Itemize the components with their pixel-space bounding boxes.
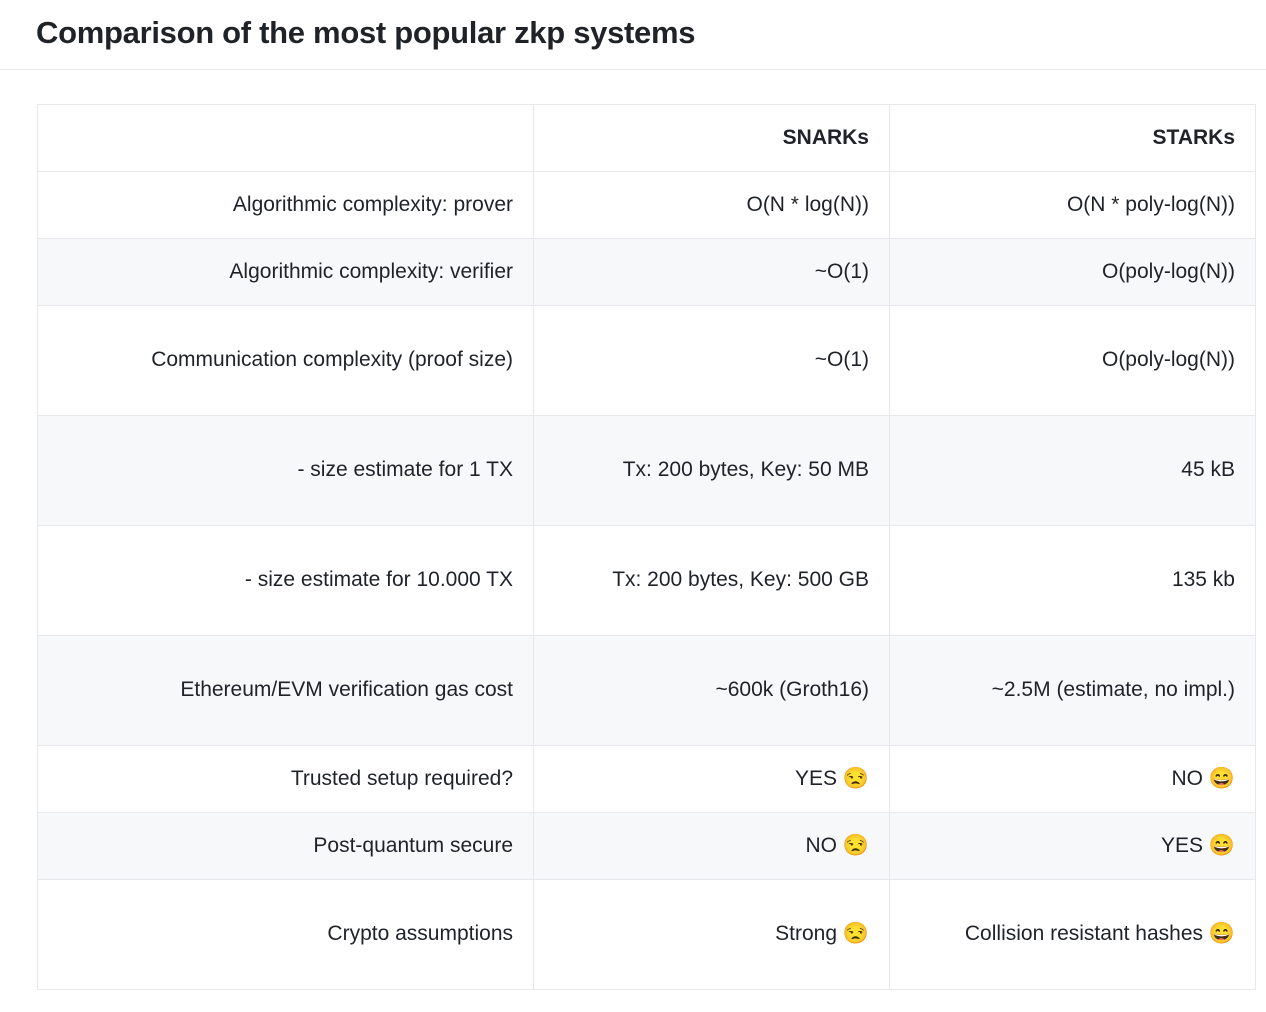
snarks-value-cell: Tx: 200 bytes, Key: 500 GB bbox=[534, 525, 890, 635]
table-row: Ethereum/EVM verification gas cost~600k … bbox=[38, 635, 1256, 745]
row-label-cell: Crypto assumptions bbox=[38, 879, 534, 989]
comparison-table-container: SNARKs STARKs Algorithmic complexity: pr… bbox=[0, 70, 1266, 990]
table-row: Algorithmic complexity: verifier~O(1)O(p… bbox=[38, 238, 1256, 305]
snarks-value-cell: YES 😒 bbox=[534, 745, 890, 812]
column-header-blank bbox=[38, 104, 534, 171]
starks-value-cell: O(N * poly-log(N)) bbox=[890, 171, 1256, 238]
row-label-cell: Ethereum/EVM verification gas cost bbox=[38, 635, 534, 745]
table-head: SNARKs STARKs bbox=[38, 104, 1256, 171]
table-row: - size estimate for 10.000 TXTx: 200 byt… bbox=[38, 525, 1256, 635]
column-header-starks: STARKs bbox=[890, 104, 1256, 171]
table-row: Crypto assumptionsStrong 😒Collision resi… bbox=[38, 879, 1256, 989]
snarks-value-cell: ~O(1) bbox=[534, 305, 890, 415]
page-title: Comparison of the most popular zkp syste… bbox=[36, 14, 1230, 69]
starks-value-cell: O(poly-log(N)) bbox=[890, 238, 1256, 305]
table-header-row: SNARKs STARKs bbox=[38, 104, 1256, 171]
table-row: Post-quantum secureNO 😒YES 😄 bbox=[38, 812, 1256, 879]
page-root: Comparison of the most popular zkp syste… bbox=[0, 0, 1266, 1012]
starks-value-cell: ~2.5M (estimate, no impl.) bbox=[890, 635, 1256, 745]
table-row: Algorithmic complexity: proverO(N * log(… bbox=[38, 171, 1256, 238]
snarks-value-cell: Strong 😒 bbox=[534, 879, 890, 989]
starks-value-cell: 45 kB bbox=[890, 415, 1256, 525]
row-label-cell: - size estimate for 10.000 TX bbox=[38, 525, 534, 635]
row-label-cell: Trusted setup required? bbox=[38, 745, 534, 812]
snarks-value-cell: Tx: 200 bytes, Key: 50 MB bbox=[534, 415, 890, 525]
snarks-value-cell: ~600k (Groth16) bbox=[534, 635, 890, 745]
starks-value-cell: 135 kb bbox=[890, 525, 1256, 635]
snarks-value-cell: NO 😒 bbox=[534, 812, 890, 879]
table-row: Trusted setup required?YES 😒NO 😄 bbox=[38, 745, 1256, 812]
starks-value-cell: O(poly-log(N)) bbox=[890, 305, 1256, 415]
starks-value-cell: NO 😄 bbox=[890, 745, 1256, 812]
table-row: Communication complexity (proof size)~O(… bbox=[38, 305, 1256, 415]
row-label-cell: Algorithmic complexity: prover bbox=[38, 171, 534, 238]
row-label-cell: Post-quantum secure bbox=[38, 812, 534, 879]
comparison-table: SNARKs STARKs Algorithmic complexity: pr… bbox=[37, 104, 1256, 990]
column-header-snarks: SNARKs bbox=[534, 104, 890, 171]
snarks-value-cell: ~O(1) bbox=[534, 238, 890, 305]
snarks-value-cell: O(N * log(N)) bbox=[534, 171, 890, 238]
row-label-cell: - size estimate for 1 TX bbox=[38, 415, 534, 525]
starks-value-cell: YES 😄 bbox=[890, 812, 1256, 879]
row-label-cell: Communication complexity (proof size) bbox=[38, 305, 534, 415]
table-row: - size estimate for 1 TXTx: 200 bytes, K… bbox=[38, 415, 1256, 525]
title-block: Comparison of the most popular zkp syste… bbox=[0, 0, 1266, 70]
row-label-cell: Algorithmic complexity: verifier bbox=[38, 238, 534, 305]
table-body: Algorithmic complexity: proverO(N * log(… bbox=[38, 171, 1256, 989]
starks-value-cell: Collision resistant hashes 😄 bbox=[890, 879, 1256, 989]
